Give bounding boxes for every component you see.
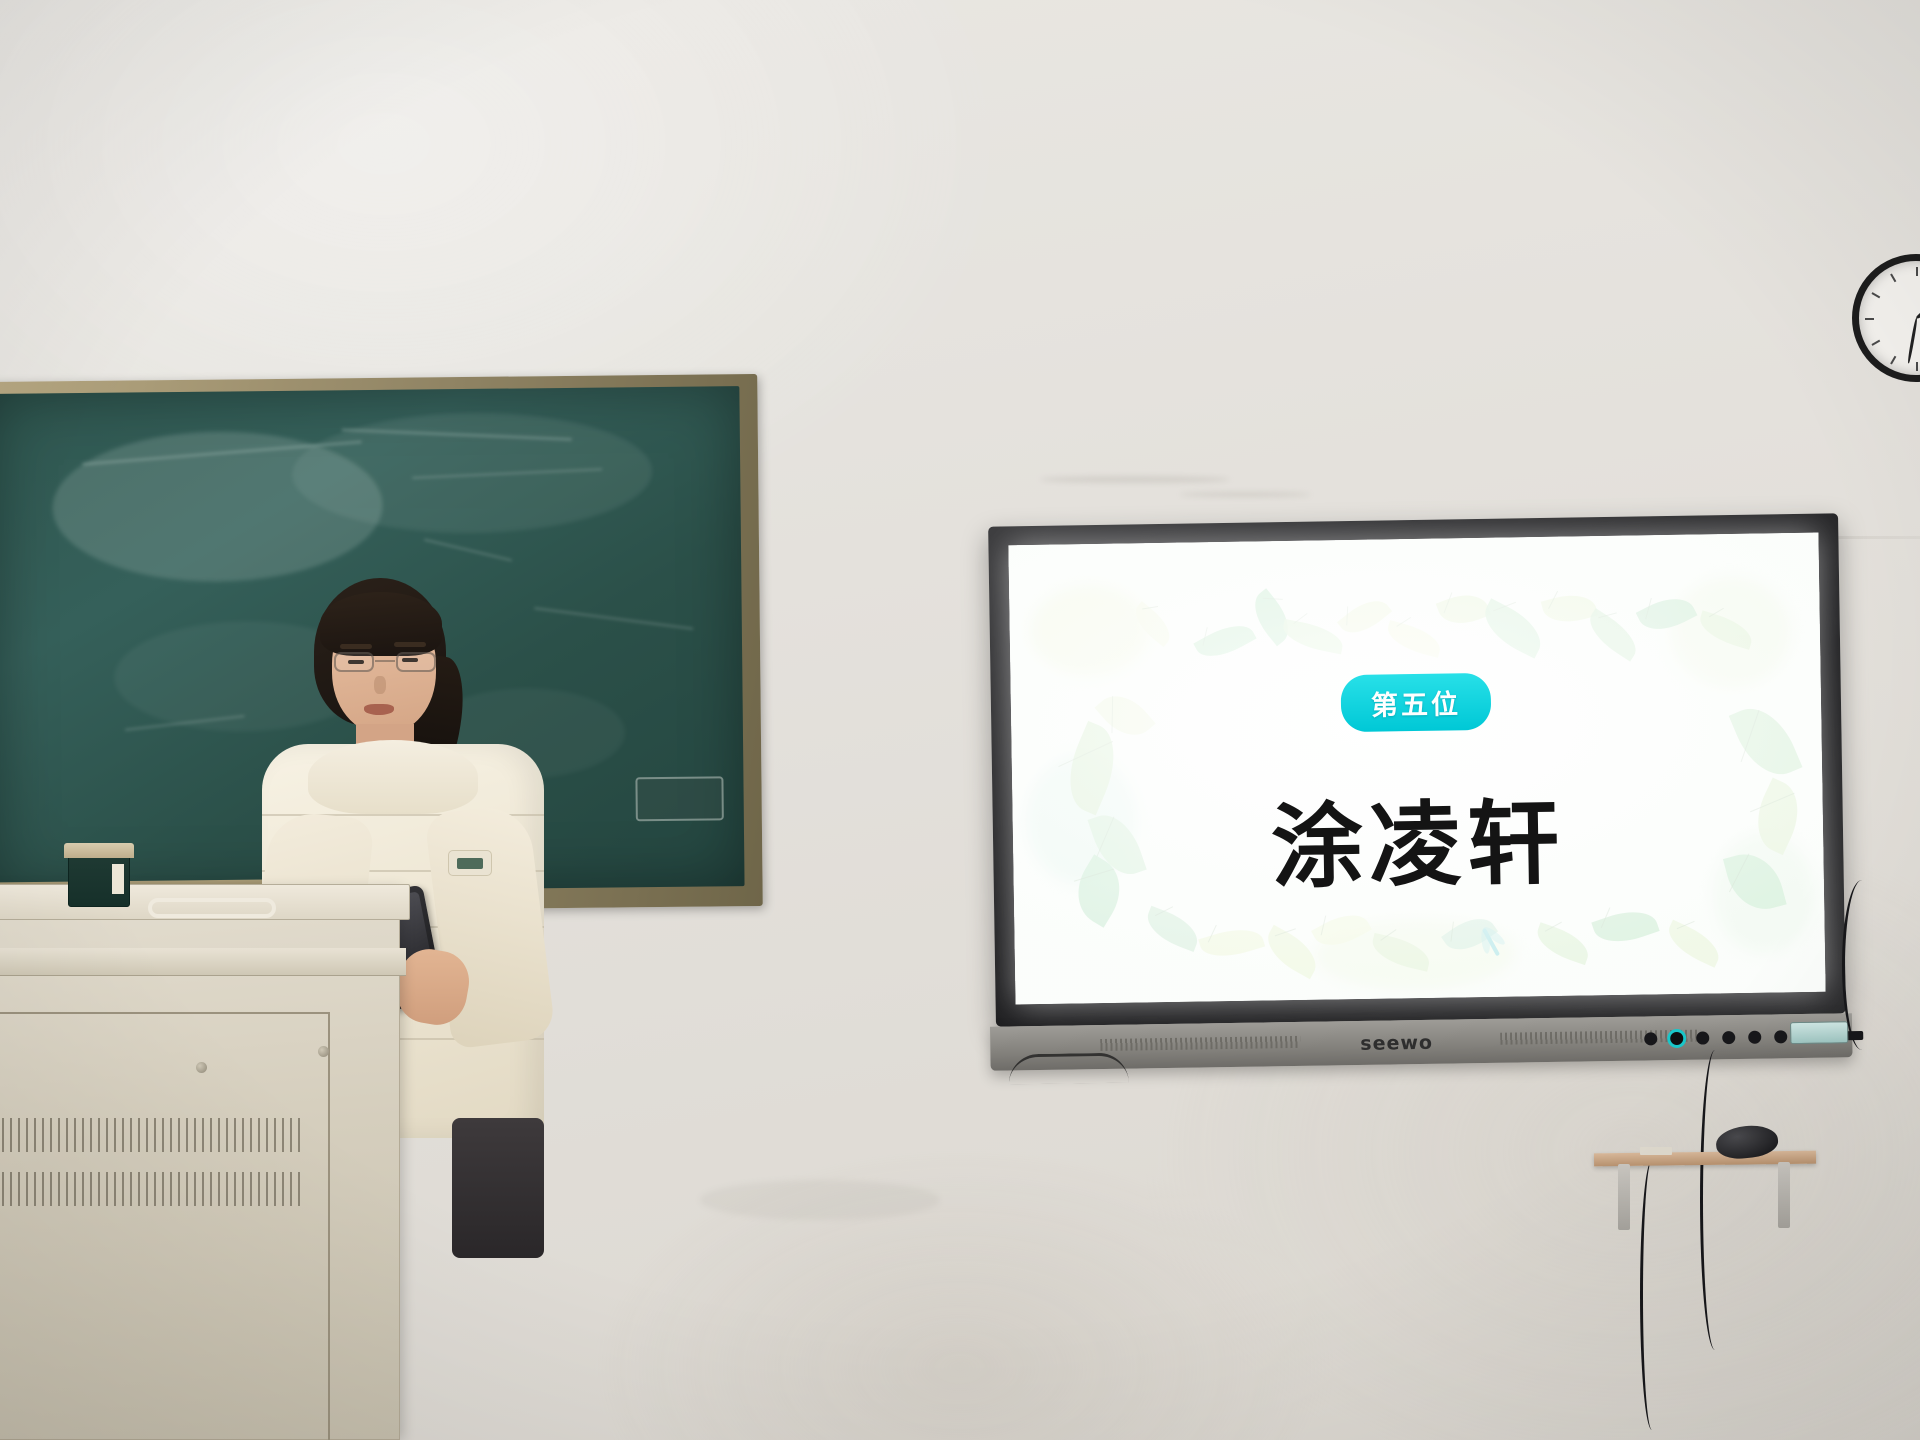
menu-button[interactable] — [1644, 1032, 1657, 1045]
desk-vent — [0, 1172, 300, 1206]
smartboard-handle-curve — [1008, 1053, 1128, 1085]
wall-scuff — [1040, 476, 1230, 483]
rank-badge: 第五位 — [1341, 673, 1492, 732]
desk-vent — [0, 1118, 300, 1152]
power-cable — [1842, 880, 1882, 1050]
student-name: 涂凌轩 — [1270, 769, 1566, 907]
shelf-bracket-right — [1778, 1162, 1790, 1228]
speaker-grille-left — [1100, 1036, 1300, 1051]
clock-hour-hand — [1915, 298, 1920, 320]
desk-latch — [318, 1046, 329, 1057]
wall-scuff — [700, 1180, 940, 1220]
blackboard-sign — [635, 776, 723, 821]
ink-bottle-label — [112, 864, 124, 894]
nose — [374, 676, 386, 694]
seewo-logo: seewo — [1360, 1032, 1433, 1055]
mouse-cable — [1700, 1050, 1730, 1350]
desk-lip — [0, 948, 406, 976]
smartboard[interactable]: 第五位 涂凌轩 seewo — [988, 513, 1846, 1026]
volume-up-button[interactable] — [1722, 1031, 1735, 1044]
source-button[interactable] — [1748, 1031, 1761, 1044]
smartboard-screen[interactable]: 第五位 涂凌轩 — [1008, 533, 1825, 1005]
smartboard-bezel: 第五位 涂凌轩 — [988, 513, 1846, 1026]
shelf-bracket-left — [1618, 1164, 1630, 1230]
classroom-scene: 第五位 涂凌轩 seewo — [0, 0, 1920, 1440]
jacket-patch — [448, 850, 492, 876]
desk-door — [0, 1012, 330, 1440]
power-button[interactable] — [1670, 1032, 1683, 1045]
desk-screw — [196, 1062, 207, 1073]
ir-sensor-module — [1790, 1021, 1848, 1044]
wall-scuff — [1180, 492, 1310, 497]
clock-minute-hand — [1907, 318, 1918, 364]
presentation-slide: 第五位 涂凌轩 — [1008, 533, 1825, 1005]
shelf-item — [1640, 1147, 1672, 1155]
home-button[interactable] — [1774, 1030, 1787, 1043]
legs — [452, 1118, 544, 1258]
mouth — [364, 704, 394, 715]
ink-bottle-cap — [64, 843, 134, 858]
desk-handle[interactable] — [148, 898, 276, 918]
glasses — [334, 652, 436, 672]
hanging-cable — [1640, 1160, 1664, 1430]
hood — [308, 740, 478, 814]
volume-down-button[interactable] — [1696, 1031, 1709, 1044]
